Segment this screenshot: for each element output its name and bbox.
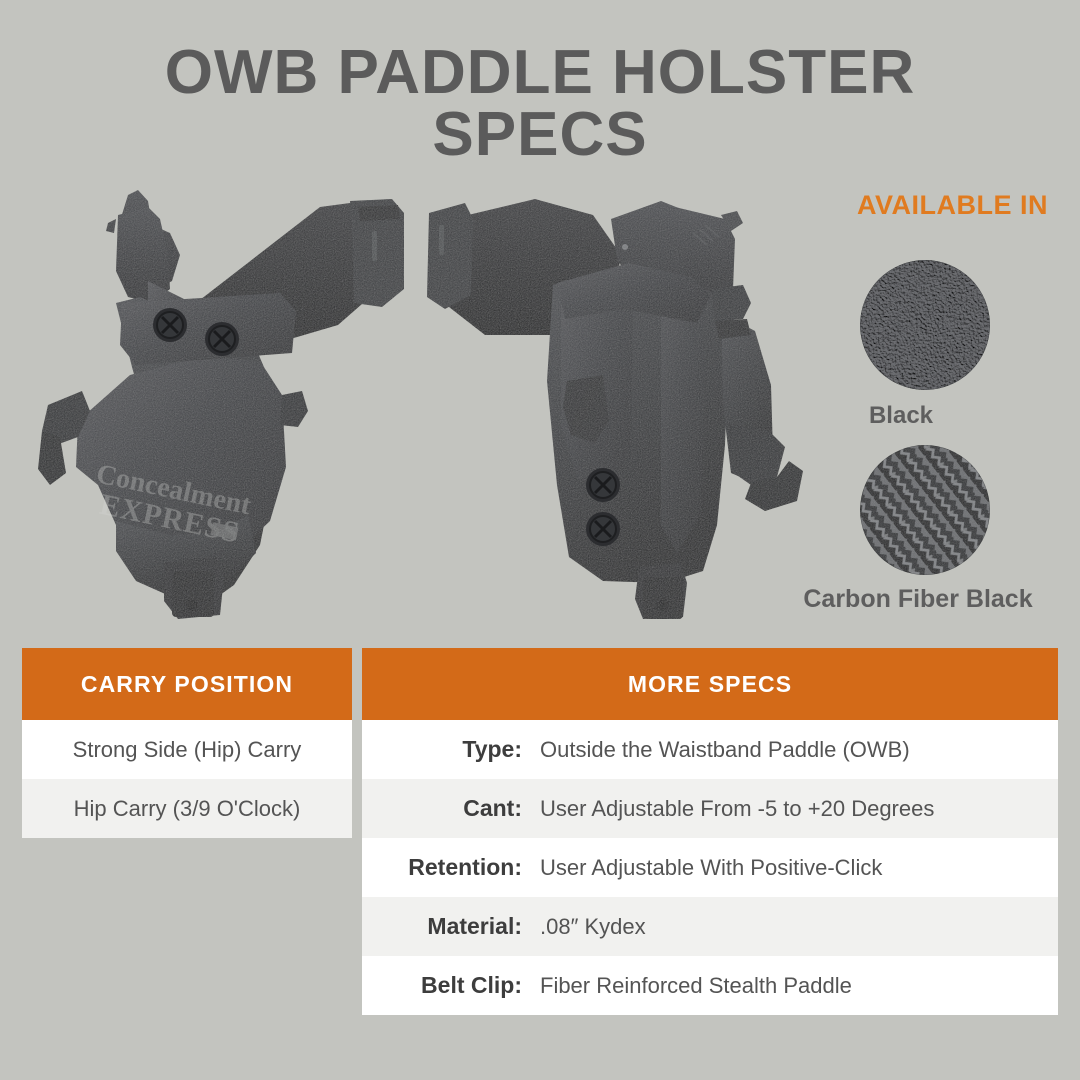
holster-image-left-view: Concealment EXPRESS bbox=[20, 185, 440, 620]
carry-position-value: Hip Carry (3/9 O'Clock) bbox=[74, 796, 301, 822]
spec-value: Fiber Reinforced Stealth Paddle bbox=[530, 973, 852, 999]
carry-position-table-header: CARRY POSITION bbox=[22, 648, 352, 720]
carry-position-table: CARRY POSITION Strong Side (Hip) Carry H… bbox=[22, 648, 352, 838]
page-title-line-2: SPECS bbox=[0, 104, 1080, 166]
spec-label: Type: bbox=[362, 736, 530, 763]
table-row: Retention: User Adjustable With Positive… bbox=[362, 838, 1058, 897]
carry-position-value: Strong Side (Hip) Carry bbox=[73, 737, 302, 763]
table-row: Material: .08″ Kydex bbox=[362, 897, 1058, 956]
table-row: Hip Carry (3/9 O'Clock) bbox=[22, 779, 352, 838]
page-title: OWB PADDLE HOLSTER SPECS bbox=[0, 42, 1080, 166]
adjustment-screw bbox=[205, 322, 239, 356]
table-row: Type: Outside the Waistband Paddle (OWB) bbox=[362, 720, 1058, 779]
adjustment-screw bbox=[586, 468, 620, 502]
swatch-label-carbon-fiber-black: Carbon Fiber Black bbox=[768, 585, 1068, 614]
infographic-root: OWB PADDLE HOLSTER SPECS bbox=[0, 0, 1080, 1080]
page-title-line-1: OWB PADDLE HOLSTER bbox=[0, 42, 1080, 104]
more-specs-table-header: MORE SPECS bbox=[362, 648, 1058, 720]
spec-label: Belt Clip: bbox=[362, 972, 530, 999]
table-row: Strong Side (Hip) Carry bbox=[22, 720, 352, 779]
spec-value: User Adjustable With Positive-Click bbox=[530, 855, 882, 881]
spec-label: Retention: bbox=[362, 854, 530, 881]
table-row: Belt Clip: Fiber Reinforced Stealth Padd… bbox=[362, 956, 1058, 1015]
swatch-black[interactable] bbox=[860, 260, 990, 390]
product-photo-area: Concealment EXPRESS bbox=[0, 185, 800, 625]
spec-label: Cant: bbox=[362, 795, 530, 822]
available-in-heading: AVAILABLE IN bbox=[778, 190, 1048, 221]
spec-value: User Adjustable From -5 to +20 Degrees bbox=[530, 796, 934, 822]
table-row: Cant: User Adjustable From -5 to +20 Deg… bbox=[362, 779, 1058, 838]
spec-label: Material: bbox=[362, 913, 530, 940]
adjustment-screw bbox=[153, 308, 187, 342]
swatch-carbon-fiber-black[interactable] bbox=[860, 445, 990, 575]
swatch-label-black: Black bbox=[746, 402, 1056, 430]
spec-value: Outside the Waistband Paddle (OWB) bbox=[530, 737, 910, 763]
spec-value: .08″ Kydex bbox=[530, 914, 646, 940]
more-specs-table: MORE SPECS Type: Outside the Waistband P… bbox=[362, 648, 1058, 1015]
adjustment-screw bbox=[586, 512, 620, 546]
available-in-panel: AVAILABLE IN Black bbox=[760, 190, 1070, 620]
